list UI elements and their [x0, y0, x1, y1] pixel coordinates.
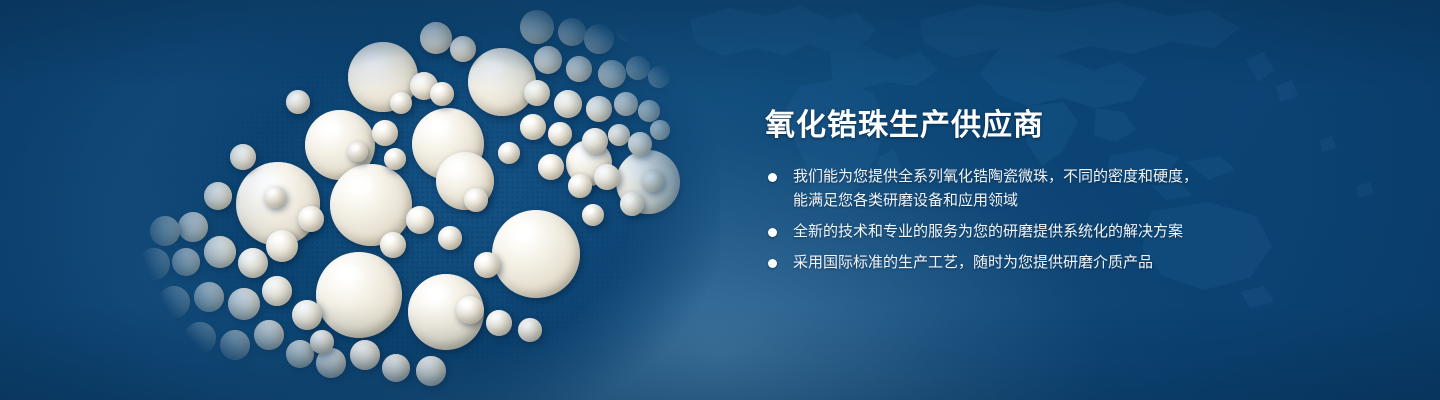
bullet-dot-icon — [768, 228, 777, 237]
list-item: 全新的技术和专业的服务为您的研磨提供系统化的解决方案 — [765, 220, 1385, 244]
hero-banner: 氧化锆珠生产供应商 我们能为您提供全系列氧化锆陶瓷微珠，不同的密度和硬度， 能满… — [0, 0, 1440, 400]
list-item-line1: 我们能为您提供全系列氧化锆陶瓷微珠，不同的密度和硬度， — [793, 168, 1198, 185]
bead-cluster — [120, 0, 720, 400]
list-item-line1: 采用国际标准的生产工艺，随时为您提供研磨介质产品 — [793, 254, 1153, 271]
banner-copy: 氧化锆珠生产供应商 我们能为您提供全系列氧化锆陶瓷微珠，不同的密度和硬度， 能满… — [765, 106, 1385, 282]
bullet-dot-icon — [768, 259, 777, 268]
bullet-dot-icon — [768, 173, 777, 182]
list-item: 采用国际标准的生产工艺，随时为您提供研磨介质产品 — [765, 251, 1385, 275]
product-photo-zirconia-beads — [120, 0, 720, 400]
list-item: 我们能为您提供全系列氧化锆陶瓷微珠，不同的密度和硬度， 能满足您各类研磨设备和应… — [765, 165, 1385, 213]
list-item-line2: 能满足您各类研磨设备和应用领域 — [793, 189, 1385, 213]
page-title: 氧化锆珠生产供应商 — [765, 106, 1385, 146]
feature-list: 我们能为您提供全系列氧化锆陶瓷微珠，不同的密度和硬度， 能满足您各类研磨设备和应… — [765, 165, 1385, 275]
list-item-line1: 全新的技术和专业的服务为您的研磨提供系统化的解决方案 — [793, 223, 1183, 240]
